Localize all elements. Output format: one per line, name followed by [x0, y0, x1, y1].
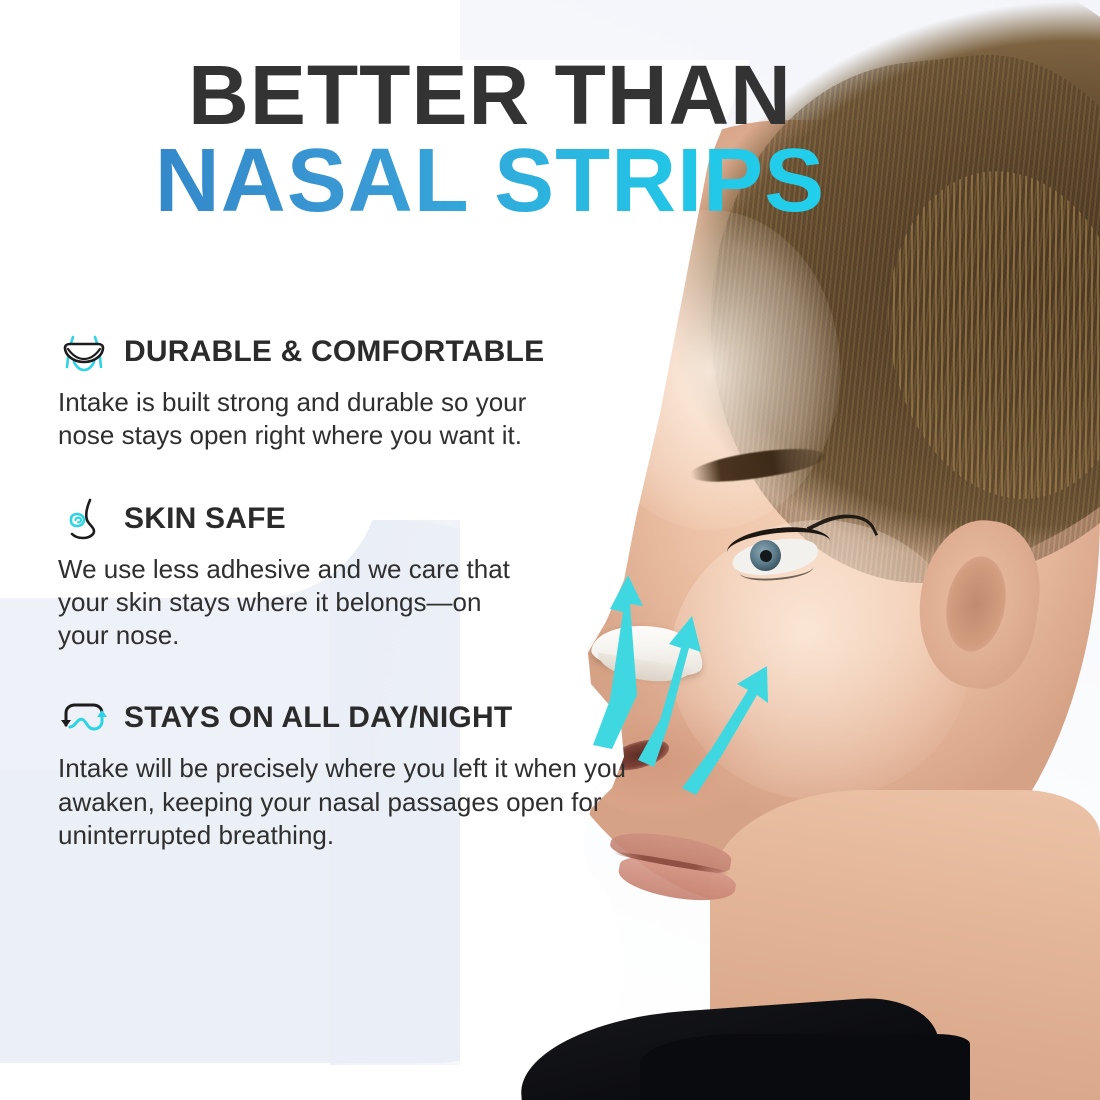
feature-body: We use less adhesive and we care that yo… [58, 553, 528, 653]
feature-header: STAYS ON ALL DAY/NIGHT [58, 696, 718, 740]
headline-line-1: BETTER THAN [0, 56, 980, 136]
ad-creative: BETTER THAN NASAL STRIPS DURABLE & COMFO… [0, 0, 1100, 1100]
headline-line-2: NASAL STRIPS [0, 136, 980, 228]
headline: BETTER THAN NASAL STRIPS [0, 56, 980, 228]
feature-title: DURABLE & COMFORTABLE [124, 335, 544, 369]
feature-header: SKIN SAFE [58, 497, 718, 541]
feature-title: STAYS ON ALL DAY/NIGHT [124, 701, 512, 735]
stays-on-cycle-icon [58, 696, 110, 740]
feature-body: Intake is built strong and durable so yo… [58, 386, 538, 453]
feature-title: SKIN SAFE [124, 502, 286, 536]
feature-body: Intake will be precisely where you left … [58, 752, 698, 852]
nasal-dilator-front-icon [58, 330, 110, 374]
nose-profile-skin-icon [58, 497, 110, 541]
feature-header: DURABLE & COMFORTABLE [58, 330, 718, 374]
feature-item-durable-comfortable: DURABLE & COMFORTABLE Intake is built st… [58, 330, 718, 453]
feature-list: DURABLE & COMFORTABLE Intake is built st… [58, 330, 718, 896]
feature-item-stays-on: STAYS ON ALL DAY/NIGHT Intake will be pr… [58, 696, 718, 852]
feature-item-skin-safe: SKIN SAFE We use less adhesive and we ca… [58, 497, 718, 653]
